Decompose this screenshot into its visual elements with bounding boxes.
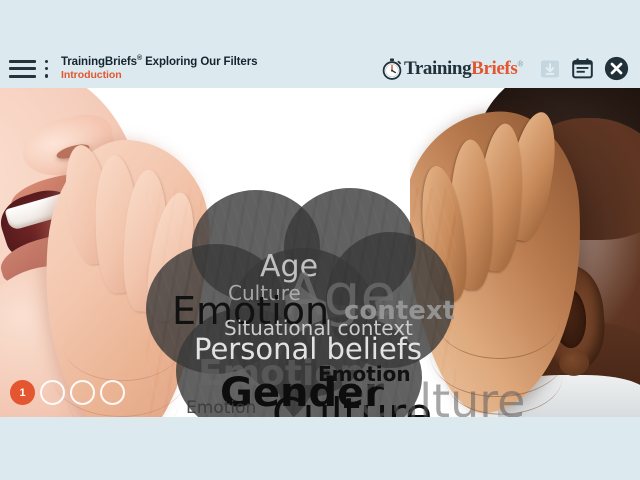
brand-wordmark: TrainingBriefs® [404,59,523,78]
thought-cloud: AgeAgeCultureEmotioncontextSituational c… [136,188,456,417]
player-footer [0,417,640,480]
brand-registered-mark: ® [517,60,523,69]
header-actions: TrainingBriefs® [381,56,640,81]
title-block: TrainingBriefs® Exploring Our Filters In… [61,55,257,81]
kebab-menu-icon[interactable] [44,60,49,78]
close-icon[interactable] [604,56,629,81]
kebab-dot [45,67,49,71]
section-title: Introduction [61,70,257,82]
slide-navigation-dots: 1 [10,380,125,405]
trainingbriefs-logo: TrainingBriefs® [381,58,523,80]
stopwatch-icon [381,58,403,80]
notes-icon[interactable] [571,57,594,80]
course-title-brand: TrainingBriefs [61,56,137,68]
course-player: TrainingBriefs® Exploring Our Filters In… [0,0,640,480]
brand-part-training: Training [404,58,471,79]
cloud-lobe [228,248,378,398]
hamburger-line [9,60,36,63]
hamburger-line [9,75,36,78]
slide-dot-4[interactable] [100,380,125,405]
hamburger-icon[interactable] [9,60,36,78]
hamburger-line [9,67,36,70]
course-title: TrainingBriefs® Exploring Our Filters [61,55,257,69]
slide-dot-3[interactable] [70,380,95,405]
player-header: TrainingBriefs® Exploring Our Filters In… [0,49,640,88]
kebab-dot [45,74,49,78]
course-title-rest: Exploring Our Filters [142,56,257,68]
kebab-dot [45,60,49,64]
brand-part-briefs: Briefs [471,58,517,79]
slide-dot-1[interactable]: 1 [10,380,35,405]
download-icon[interactable] [539,58,561,80]
slide-stage: AgeAgeCultureEmotioncontextSituational c… [0,88,640,417]
slide-dot-2[interactable] [40,380,65,405]
